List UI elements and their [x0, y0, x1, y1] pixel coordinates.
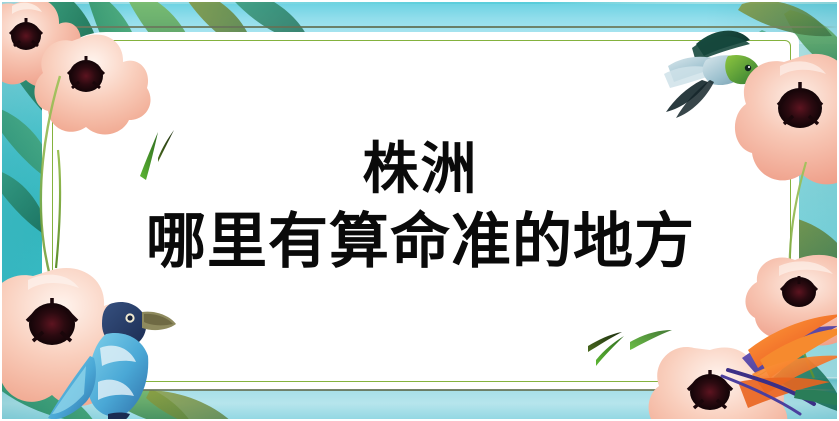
- banner-image: 株洲 哪里有算命准的地方: [0, 0, 839, 421]
- outer-frame: [0, 0, 839, 421]
